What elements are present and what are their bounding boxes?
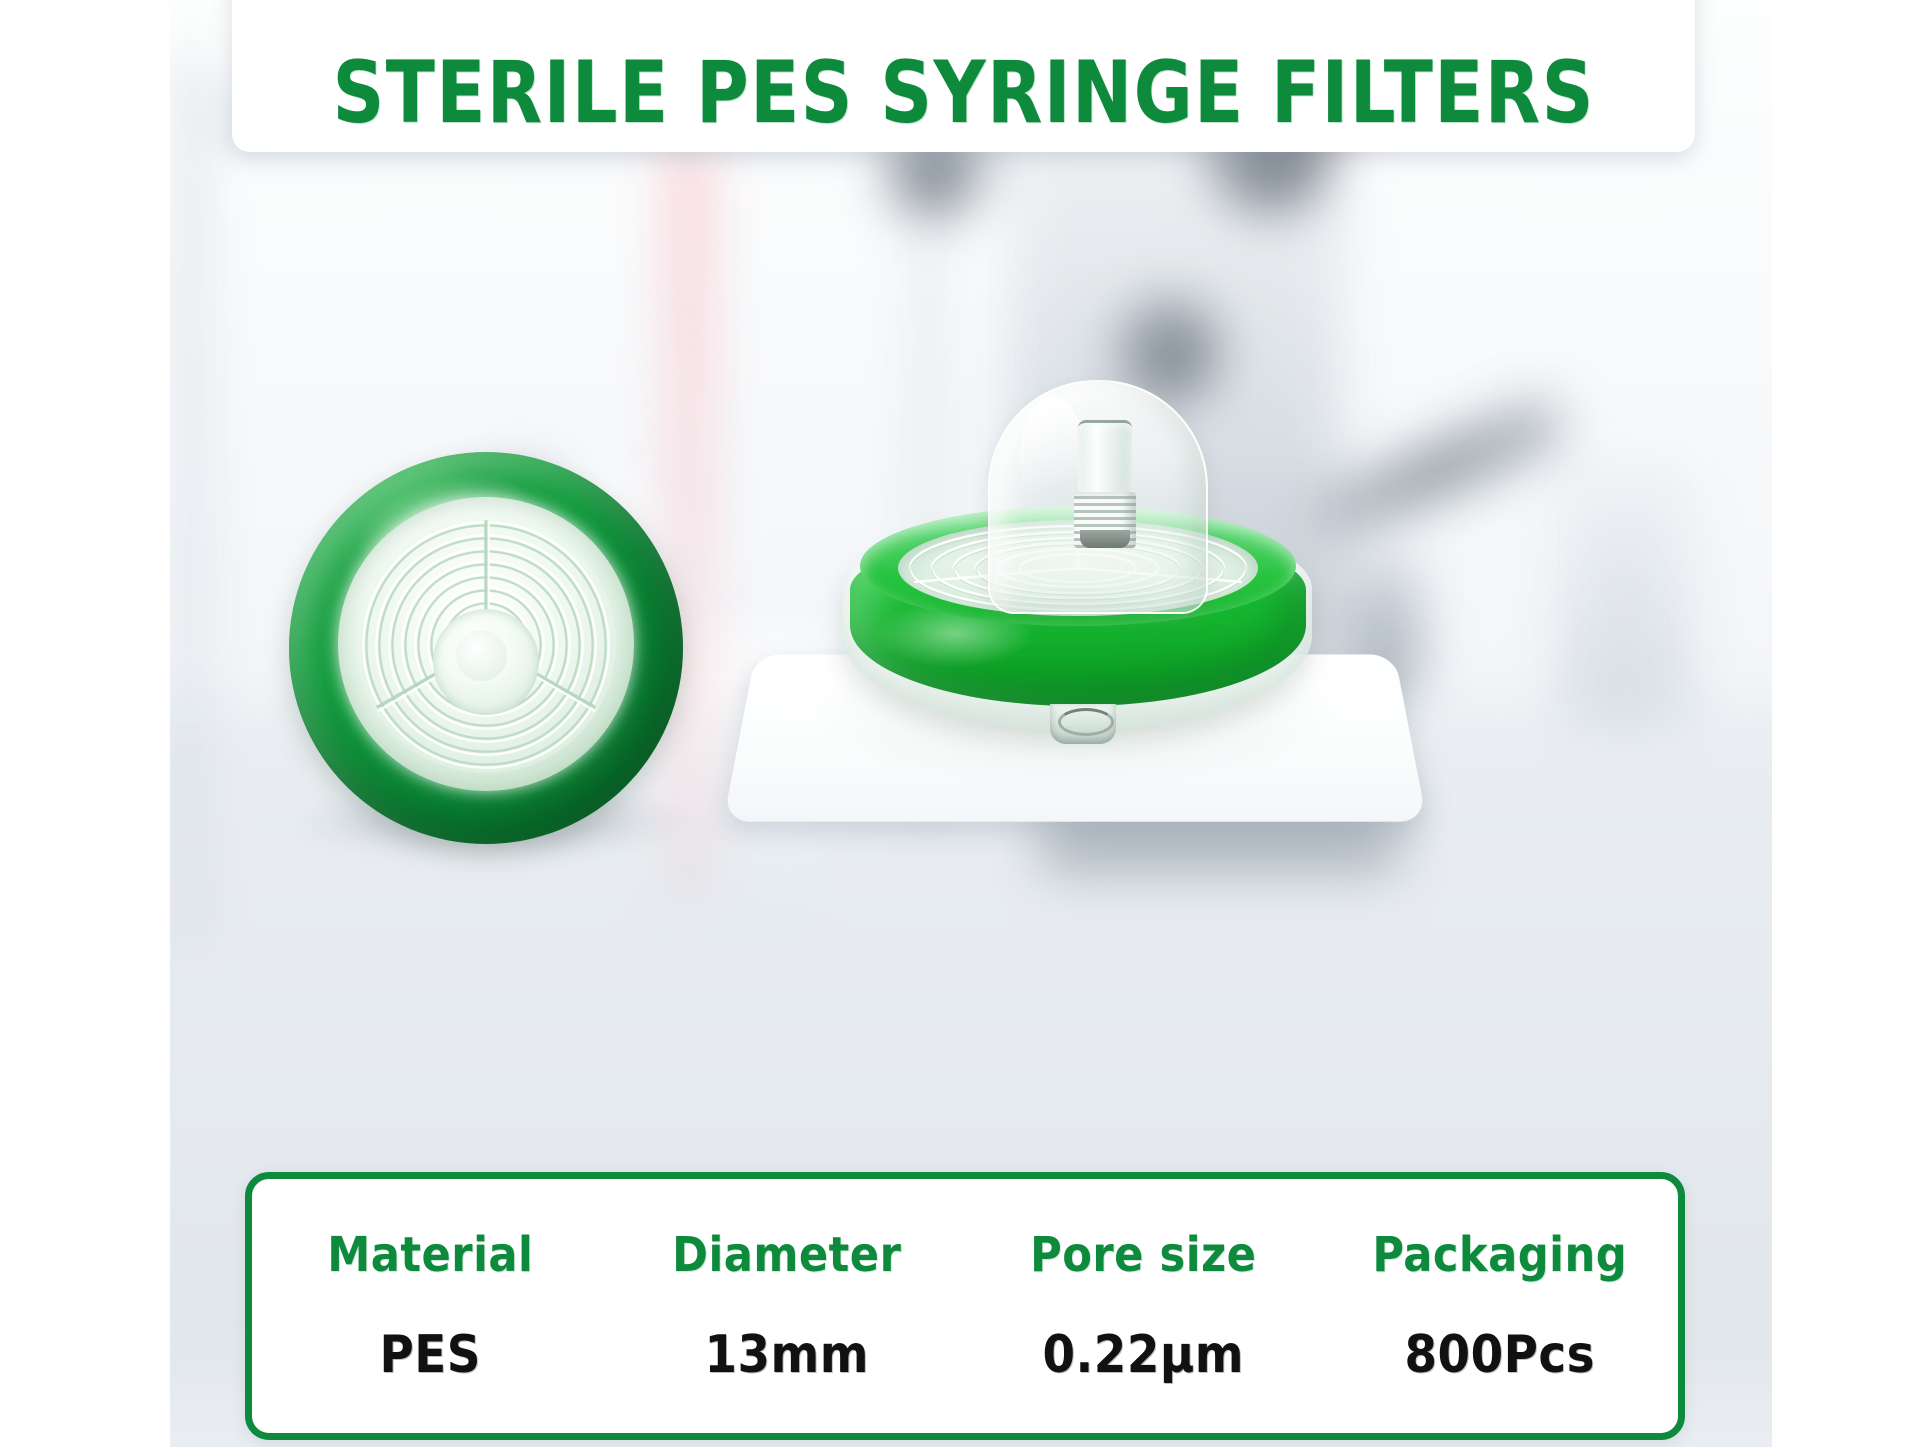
spec-header-cell-packaging: Packaging xyxy=(1322,1227,1679,1283)
spec-value-pore-size: 0.22μm xyxy=(1042,1325,1244,1385)
stand-post-icon xyxy=(180,50,202,950)
product-poster: STERILE PES SYRINGE FILTERS xyxy=(0,0,1930,1447)
spec-header-diameter: Diameter xyxy=(672,1227,901,1283)
spec-header-cell-pore-size: Pore size xyxy=(965,1227,1322,1283)
spec-value-material: PES xyxy=(380,1325,481,1385)
page-title: STERILE PES SYRINGE FILTERS xyxy=(332,50,1594,136)
product-image-filter-face-view xyxy=(289,452,683,844)
spec-value-diameter: 13mm xyxy=(704,1325,869,1385)
luer-stem xyxy=(1078,420,1132,503)
specifications-box: Material Diameter Pore size Packaging PE… xyxy=(245,1172,1685,1440)
luer-thread xyxy=(1074,492,1136,548)
spec-value-cell-pore-size: 0.22μm xyxy=(965,1325,1322,1385)
product-image-filter-three-quarter-view xyxy=(740,372,1430,842)
title-card: STERILE PES SYRINGE FILTERS xyxy=(232,0,1695,152)
filter-outlet-luer xyxy=(1050,704,1116,744)
spec-header-cell-diameter: Diameter xyxy=(609,1227,966,1283)
spec-value-cell-packaging: 800Pcs xyxy=(1322,1325,1679,1385)
spec-header-packaging: Packaging xyxy=(1372,1227,1627,1283)
specifications-value-row: PES 13mm 0.22μm 800Pcs xyxy=(252,1325,1678,1385)
right-margin xyxy=(1772,0,1930,1447)
specifications-header-row: Material Diameter Pore size Packaging xyxy=(252,1227,1678,1283)
spec-value-packaging: 800Pcs xyxy=(1404,1325,1595,1385)
spec-value-cell-material: PES xyxy=(252,1325,609,1385)
left-margin xyxy=(0,0,170,1447)
filter-luer-lock-inlet xyxy=(1074,420,1136,548)
spec-header-cell-material: Material xyxy=(252,1227,609,1283)
spec-value-cell-diameter: 13mm xyxy=(609,1325,966,1385)
spec-header-pore-size: Pore size xyxy=(1030,1227,1256,1283)
microscope-lamp-icon xyxy=(1560,460,1690,720)
filter-center-hub xyxy=(433,609,539,715)
spec-header-material: Material xyxy=(327,1227,533,1283)
